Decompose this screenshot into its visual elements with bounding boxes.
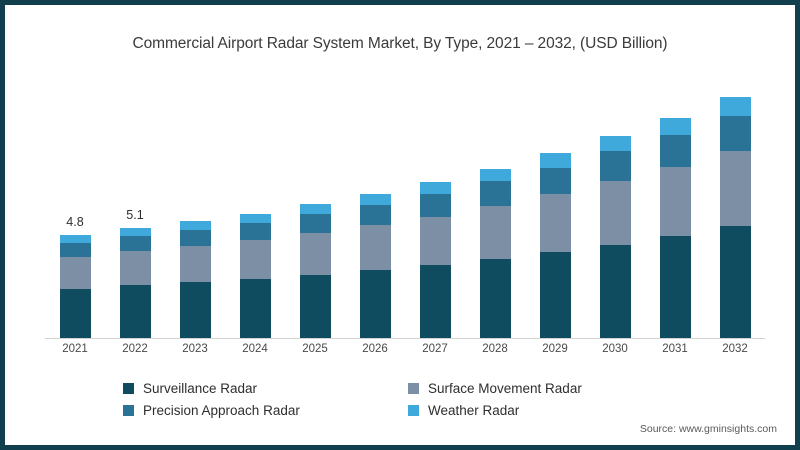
- legend-swatch-icon: [123, 405, 134, 416]
- bar-segment[interactable]: [240, 214, 271, 223]
- legend-item-precision-approach-radar[interactable]: Precision Approach Radar: [123, 403, 408, 418]
- bar-segment[interactable]: [600, 136, 631, 152]
- x-axis-tick-2031: 2031: [645, 343, 705, 355]
- bar-segment[interactable]: [240, 223, 271, 240]
- bar-group[interactable]: [465, 73, 525, 338]
- legend-swatch-icon: [123, 383, 134, 394]
- bar-segment[interactable]: [720, 116, 751, 151]
- bar-stack[interactable]: [60, 235, 91, 338]
- bar-group[interactable]: [405, 73, 465, 338]
- x-axis-line: [45, 338, 765, 339]
- bar-segment[interactable]: [300, 204, 331, 214]
- bar-segment[interactable]: [540, 194, 571, 252]
- x-axis-tick-labels: 2021202220232024202520262027202820292030…: [45, 343, 765, 355]
- bar-stack[interactable]: [720, 97, 751, 338]
- chart-title: Commercial Airport Radar System Market, …: [5, 35, 795, 53]
- bar-group[interactable]: [225, 73, 285, 338]
- legend-swatch-icon: [408, 383, 419, 394]
- bar-segment[interactable]: [60, 289, 91, 338]
- bar-segment[interactable]: [600, 151, 631, 181]
- bar-segment[interactable]: [360, 225, 391, 270]
- bar-segment[interactable]: [360, 194, 391, 205]
- bar-segment[interactable]: [360, 270, 391, 338]
- bar-stack[interactable]: [480, 169, 511, 338]
- chart-card: Commercial Airport Radar System Market, …: [0, 0, 800, 450]
- bar-stack[interactable]: [120, 228, 151, 338]
- bar-group[interactable]: [525, 73, 585, 338]
- bar-segment[interactable]: [60, 257, 91, 289]
- bar-segment[interactable]: [60, 235, 91, 243]
- bar-segment[interactable]: [540, 168, 571, 195]
- bar-stack[interactable]: [300, 204, 331, 338]
- bar-segment[interactable]: [420, 217, 451, 265]
- legend-label: Surface Movement Radar: [428, 381, 582, 396]
- legend-item-weather-radar[interactable]: Weather Radar: [408, 403, 693, 418]
- x-axis-tick-2023: 2023: [165, 343, 225, 355]
- legend-swatch-icon: [408, 405, 419, 416]
- legend-item-surface-movement-radar[interactable]: Surface Movement Radar: [408, 381, 693, 396]
- bar-stack[interactable]: [360, 194, 391, 338]
- bar-segment[interactable]: [120, 236, 151, 251]
- legend-label: Weather Radar: [428, 403, 519, 418]
- bar-segment[interactable]: [300, 275, 331, 338]
- bar-segment[interactable]: [360, 205, 391, 225]
- bar-segment[interactable]: [660, 118, 691, 135]
- x-axis-tick-2026: 2026: [345, 343, 405, 355]
- x-axis-tick-2028: 2028: [465, 343, 525, 355]
- legend-label: Precision Approach Radar: [143, 403, 300, 418]
- bar-segment[interactable]: [540, 252, 571, 338]
- bar-segment[interactable]: [480, 259, 511, 338]
- bar-segment[interactable]: [180, 221, 211, 230]
- bar-segment[interactable]: [180, 282, 211, 338]
- bar-segment[interactable]: [420, 182, 451, 194]
- bar-stack[interactable]: [420, 182, 451, 338]
- bar-segment[interactable]: [660, 236, 691, 338]
- bar-segment[interactable]: [120, 228, 151, 236]
- x-axis-tick-2032: 2032: [705, 343, 765, 355]
- bar-segment[interactable]: [720, 97, 751, 116]
- chart-legend: Surveillance RadarSurface Movement Radar…: [123, 381, 693, 418]
- x-axis-tick-2030: 2030: [585, 343, 645, 355]
- bar-group[interactable]: [645, 73, 705, 338]
- bar-stack[interactable]: [600, 136, 631, 338]
- bar-segment[interactable]: [180, 246, 211, 282]
- bar-group[interactable]: 4.8: [45, 73, 105, 338]
- bar-segment[interactable]: [240, 279, 271, 338]
- bar-group[interactable]: [165, 73, 225, 338]
- bars-container: 4.85.1: [45, 73, 765, 338]
- bar-segment[interactable]: [300, 233, 331, 275]
- bar-stack[interactable]: [180, 221, 211, 338]
- x-axis-tick-2027: 2027: [405, 343, 465, 355]
- x-axis-tick-2022: 2022: [105, 343, 165, 355]
- x-axis-tick-2029: 2029: [525, 343, 585, 355]
- bar-segment[interactable]: [60, 243, 91, 257]
- bar-segment[interactable]: [120, 285, 151, 338]
- bar-segment[interactable]: [720, 226, 751, 338]
- x-axis-tick-2025: 2025: [285, 343, 345, 355]
- legend-item-surveillance-radar[interactable]: Surveillance Radar: [123, 381, 408, 396]
- bar-value-label: 4.8: [66, 215, 83, 229]
- plot-area: 4.85.1: [45, 73, 765, 339]
- bar-group[interactable]: [585, 73, 645, 338]
- x-axis-tick-2021: 2021: [45, 343, 105, 355]
- bar-segment[interactable]: [180, 230, 211, 246]
- bar-segment[interactable]: [480, 206, 511, 259]
- bar-segment[interactable]: [660, 135, 691, 167]
- bar-segment[interactable]: [480, 181, 511, 206]
- bar-stack[interactable]: [240, 214, 271, 338]
- bar-stack[interactable]: [660, 118, 691, 338]
- bar-group[interactable]: [285, 73, 345, 338]
- bar-segment[interactable]: [720, 151, 751, 226]
- bar-segment[interactable]: [600, 245, 631, 338]
- bar-segment[interactable]: [420, 194, 451, 217]
- legend-label: Surveillance Radar: [143, 381, 257, 396]
- x-axis-tick-2024: 2024: [225, 343, 285, 355]
- source-attribution: Source: www.gminsights.com: [640, 423, 777, 435]
- bar-segment[interactable]: [540, 153, 571, 167]
- bar-segment[interactable]: [300, 214, 331, 233]
- bar-group[interactable]: [705, 73, 765, 338]
- bar-segment[interactable]: [420, 265, 451, 338]
- bar-segment[interactable]: [240, 240, 271, 279]
- bar-segment[interactable]: [480, 169, 511, 182]
- bar-stack[interactable]: [540, 153, 571, 338]
- bar-value-label: 5.1: [126, 208, 143, 222]
- bar-segment[interactable]: [660, 167, 691, 236]
- bar-segment[interactable]: [600, 181, 631, 244]
- bar-group[interactable]: [345, 73, 405, 338]
- bar-group[interactable]: 5.1: [105, 73, 165, 338]
- bar-segment[interactable]: [120, 251, 151, 285]
